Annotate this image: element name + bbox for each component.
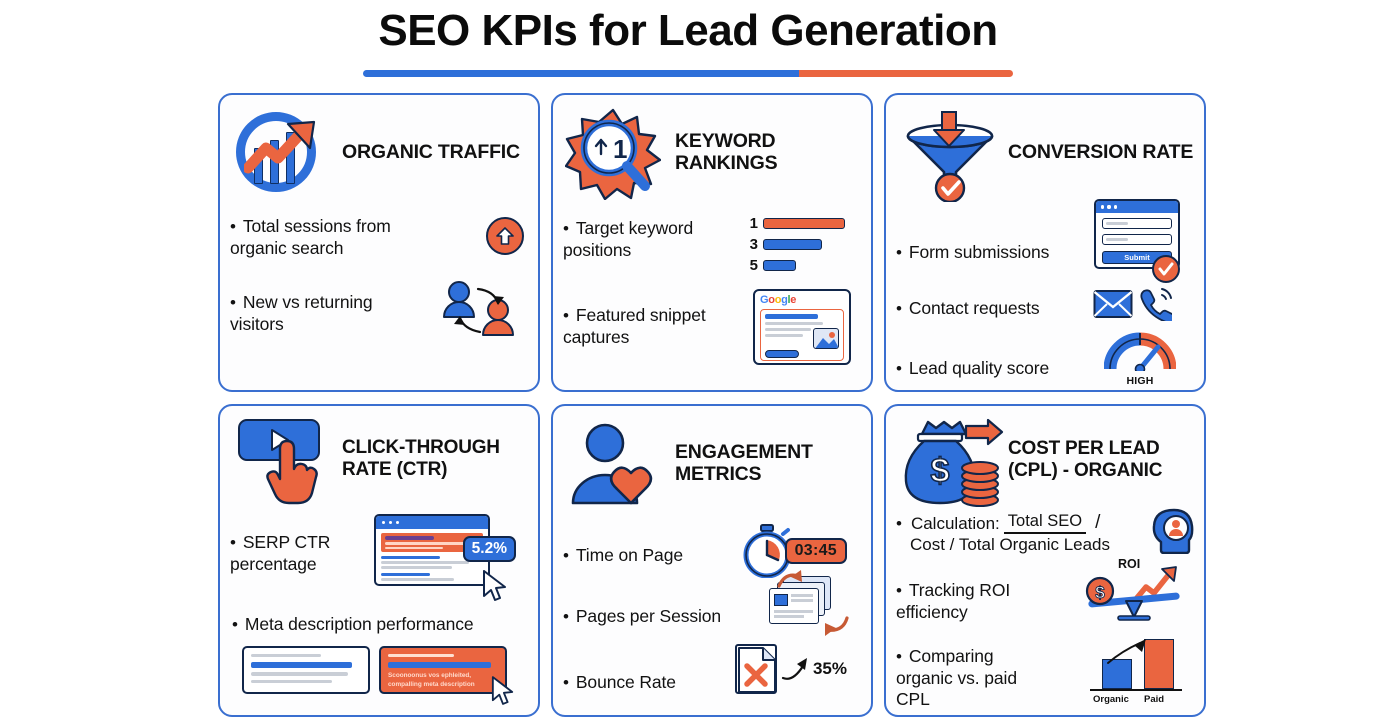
starburst-magnifier-icon: 1 xyxy=(563,104,667,200)
bullet-text: Bounce Rate xyxy=(563,672,713,694)
person-heart-icon xyxy=(563,415,667,511)
svg-text:1: 1 xyxy=(613,134,627,164)
card-header: 1 KEYWORD RANKINGS xyxy=(553,95,871,199)
growth-chart-circle-icon xyxy=(230,104,334,200)
card-header: ENGAGEMENT METRICS xyxy=(553,406,871,510)
funnel-check-icon xyxy=(896,104,1000,200)
bullet-text: Meta description performance xyxy=(230,614,528,636)
serp-browser-window: 5.2% xyxy=(374,514,490,586)
kpi-card-organic-traffic[interactable]: ORGANIC TRAFFIC Total sessions from orga… xyxy=(218,93,540,392)
cpl-calculation: Calculation: Total SEO / Cost / Total Or… xyxy=(886,512,1204,555)
two-users-cycle-icon xyxy=(440,277,520,344)
card-bullets: Time on Page xyxy=(553,536,871,710)
card-title: ORGANIC TRAFFIC xyxy=(342,141,520,163)
svg-text:$: $ xyxy=(931,452,950,490)
card-bullets: Form submissions Submit xyxy=(886,235,1204,392)
bullet-text: Time on Page xyxy=(563,545,713,567)
kpi-card-grid: ORGANIC TRAFFIC Total sessions from orga… xyxy=(218,93,1214,721)
bullet-text: Tracking ROI efficiency xyxy=(896,580,1041,623)
chart-label-organic: Organic xyxy=(1093,694,1129,705)
kpi-card-click-through-rate[interactable]: CLICK-THROUGH RATE (CTR) SERP CTR percen… xyxy=(218,404,540,717)
bullet-text: Target keyword positions xyxy=(563,218,731,261)
page-title: SEO KPIs for Lead Generation xyxy=(0,8,1376,54)
card-title: ENGAGEMENT METRICS xyxy=(675,441,861,486)
calculation-denominator: Cost / Total Organic Leads xyxy=(896,535,1194,555)
form-submit-window: Submit xyxy=(1094,199,1180,283)
card-header: CONVERSION RATE xyxy=(886,95,1204,199)
card-bullets: Total sessions from organic search New v… xyxy=(220,209,538,345)
bullet-text: Form submissions xyxy=(896,242,1071,264)
divider-blue-segment xyxy=(363,70,799,77)
meta-box-optimized: Scoonoonus vos ephleited, compalling met… xyxy=(379,646,507,694)
divider-orange-segment xyxy=(799,70,1014,77)
bullet-text: Lead quality score xyxy=(896,358,1074,380)
rank-row: 1 xyxy=(749,215,849,232)
gauge-icon: HIGH xyxy=(1104,329,1176,387)
calculation-label: Calculation: xyxy=(911,514,1000,534)
bounce-arrow-icon xyxy=(781,656,809,682)
pages-stack-icon xyxy=(759,572,845,634)
google-logo: Google xyxy=(760,295,844,306)
play-button-hand-icon xyxy=(230,411,334,507)
check-badge-icon xyxy=(1152,255,1180,283)
bullet-text: New vs returning visitors xyxy=(230,292,420,335)
envelope-icon xyxy=(1093,289,1133,319)
page-header: SEO KPIs for Lead Generation xyxy=(0,0,1376,77)
infographic-page: SEO KPIs for Lead Generation xyxy=(0,0,1376,728)
card-title: KEYWORD RANKINGS xyxy=(675,130,861,175)
card-bullets: Target keyword positions 1 3 xyxy=(553,209,871,365)
cursor-icon xyxy=(491,676,515,706)
card-bullets: SERP CTR percentage 5.2% xyxy=(220,516,538,694)
bullet-text: Comparing organic vs. paid CPL xyxy=(896,646,1054,710)
bullet-text: Contact requests xyxy=(896,298,1071,320)
up-arrow-circle-icon xyxy=(486,217,524,255)
calculation-numerator: Total SEO xyxy=(1004,512,1086,534)
rank-position: 3 xyxy=(749,236,758,253)
rank-row: 5 xyxy=(749,257,849,274)
card-header: $ COST PER LEAD (CPL) - ORGANIC xyxy=(886,406,1204,504)
card-header: ORGANIC TRAFFIC xyxy=(220,95,538,199)
time-on-page-value: 03:45 xyxy=(785,538,847,564)
google-snippet-card: Google xyxy=(753,289,851,365)
rank-row: 3 xyxy=(749,236,849,253)
card-title: COST PER LEAD (CPL) - ORGANIC xyxy=(1008,438,1194,482)
bullet-text: Featured snippet captures xyxy=(563,305,725,348)
card-header: CLICK-THROUGH RATE (CTR) xyxy=(220,406,538,502)
kpi-card-engagement-metrics[interactable]: ENGAGEMENT METRICS Time on Page xyxy=(551,404,873,717)
svg-text:$: $ xyxy=(1095,583,1105,602)
cursor-icon xyxy=(482,570,508,602)
rank-position: 1 xyxy=(749,215,758,232)
envelope-phone-icons xyxy=(1093,287,1172,321)
card-title: CLICK-THROUGH RATE (CTR) xyxy=(342,437,528,481)
meta-description-boxes: Scoonoonus vos ephleited, compalling met… xyxy=(230,646,528,694)
rank-bars-chart: 1 3 5 xyxy=(749,215,849,278)
money-bag-coins-icon: $ xyxy=(896,412,1000,508)
bounce-rate-value: 35% xyxy=(813,659,847,679)
chart-label-paid: Paid xyxy=(1144,694,1164,705)
bullet-text: Total sessions from organic search xyxy=(230,216,430,259)
kpi-card-keyword-rankings[interactable]: 1 KEYWORD RANKINGS Target keyword positi… xyxy=(551,93,873,392)
bullet-text: Pages per Session xyxy=(563,606,733,628)
ctr-badge: 5.2% xyxy=(463,536,516,562)
title-divider xyxy=(363,70,1013,77)
cpl-bar-chart: Organic Paid xyxy=(1086,641,1186,705)
card-bullets: Tracking ROI efficiency ROI $ xyxy=(886,573,1204,713)
meta-box-plain xyxy=(242,646,370,694)
phone-icon xyxy=(1138,287,1172,321)
bullet-text: SERP CTR percentage xyxy=(230,532,370,575)
pointing-hand-icon xyxy=(260,439,324,505)
kpi-card-conversion-rate[interactable]: CONVERSION RATE Form submissions Submit xyxy=(884,93,1206,392)
calculation-divider: / xyxy=(1095,512,1100,534)
meta-snippet-text: Scoonoonus vos ephleited, compalling met… xyxy=(388,672,498,689)
card-title: CONVERSION RATE xyxy=(1008,141,1193,163)
gauge-label: HIGH xyxy=(1104,375,1176,387)
seesaw-roi-icon: ROI $ xyxy=(1084,559,1184,621)
kpi-card-cost-per-lead[interactable]: $ COST PER LEAD (CPL) - ORGANIC xyxy=(884,404,1206,717)
head-profile-icon xyxy=(1152,508,1198,554)
image-thumbnail-icon xyxy=(813,328,839,349)
bounce-doc-icon: 35% xyxy=(735,644,847,694)
rank-position: 5 xyxy=(749,257,758,274)
